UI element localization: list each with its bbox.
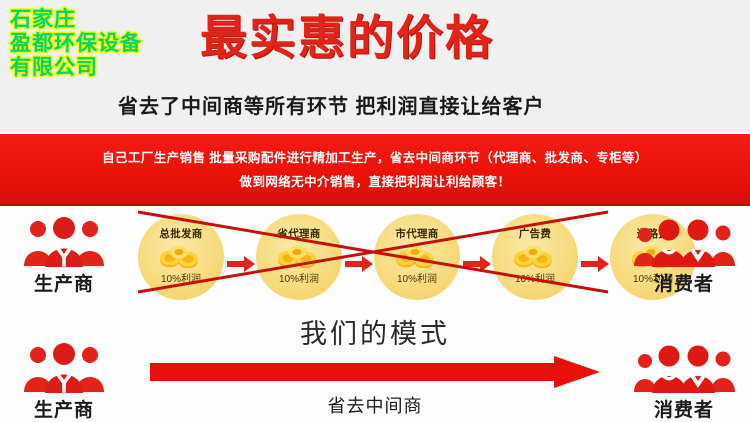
our-model-consumer-label: 消费者 <box>624 395 744 422</box>
middleman-node-2-profit: 10%利润 <box>256 270 342 285</box>
gold-coins-icon <box>256 244 342 268</box>
three-people-icon <box>4 342 124 394</box>
poster-root: 石家庄 盈都环保设备 有限公司 最实惠的价格 省去了中间商等所有环节 把利润直接… <box>0 0 750 422</box>
logo-line-3: 有限公司 <box>10 56 200 80</box>
chain-consumer: 消费者 <box>624 216 744 296</box>
middleman-node-3-title: 市代理商 <box>374 226 460 241</box>
logo-line-1: 石家庄 <box>10 8 200 32</box>
middleman-node-4-profit: 10%利润 <box>492 270 578 285</box>
four-people-icon <box>624 216 744 268</box>
middleman-node-4: 广告费 10%利润 <box>492 214 578 300</box>
chain-producer: 生产商 <box>4 216 124 296</box>
gold-coins-icon <box>138 244 224 268</box>
three-people-icon <box>4 216 124 268</box>
middleman-node-4-title: 广告费 <box>492 226 578 241</box>
chain-producer-label: 生产商 <box>4 269 124 296</box>
promo-banner: 自己工厂生产销售 批量采购配件进行精加工生产，省去中间商环节（代理商、批发商、专… <box>0 134 750 206</box>
middleman-node-3-profit: 10%利润 <box>374 270 460 285</box>
our-model-producer-label: 生产商 <box>4 395 124 422</box>
page-title: 最实惠的价格 <box>200 12 494 64</box>
our-model-diagram: 生产商 省去中间商 <box>0 340 750 422</box>
middleman-node-1-profit: 10%利润 <box>138 270 224 285</box>
middleman-node-2: 省代理商 10%利润 <box>256 214 342 300</box>
our-model-producer: 生产商 <box>4 342 124 422</box>
company-logo: 石家庄 盈都环保设备 有限公司 <box>10 8 200 80</box>
four-people-icon <box>624 342 744 394</box>
middleman-node-2-title: 省代理商 <box>256 226 342 241</box>
promo-banner-line-1: 自己工厂生产销售 批量采购配件进行精加工生产，省去中间商环节（代理商、批发商、专… <box>102 147 648 171</box>
arrow-right-icon-4 <box>581 256 609 272</box>
promo-banner-line-2: 做到网络无中介销售，直接把利润让利给顾客！ <box>240 171 511 195</box>
big-arrow-right-icon <box>150 356 600 388</box>
traditional-chain-diagram: 生产商 总批发商 10%利润 <box>0 206 750 311</box>
middleman-node-3: 市代理商 10%利润 <box>374 214 460 300</box>
arrow-right-icon-2 <box>345 256 373 272</box>
arrow-right-icon-3 <box>463 256 491 272</box>
gold-coins-icon <box>374 244 460 268</box>
chain-consumer-label: 消费者 <box>624 269 744 296</box>
middlemen-nodes: 总批发商 10%利润 <box>138 208 608 308</box>
our-model-consumer: 消费者 <box>624 342 744 422</box>
page-subtitle: 省去了中间商等所有环节 把利润直接让给客户 <box>118 90 545 119</box>
logo-line-2: 盈都环保设备 <box>10 32 200 56</box>
gold-coins-icon <box>492 244 578 268</box>
middleman-node-1-title: 总批发商 <box>138 226 224 241</box>
header: 石家庄 盈都环保设备 有限公司 最实惠的价格 省去了中间商等所有环节 把利润直接… <box>0 0 750 132</box>
middleman-node-1: 总批发商 10%利润 <box>138 214 224 300</box>
arrow-right-icon-1 <box>227 256 255 272</box>
our-model-arrow-label: 省去中间商 <box>150 392 600 418</box>
